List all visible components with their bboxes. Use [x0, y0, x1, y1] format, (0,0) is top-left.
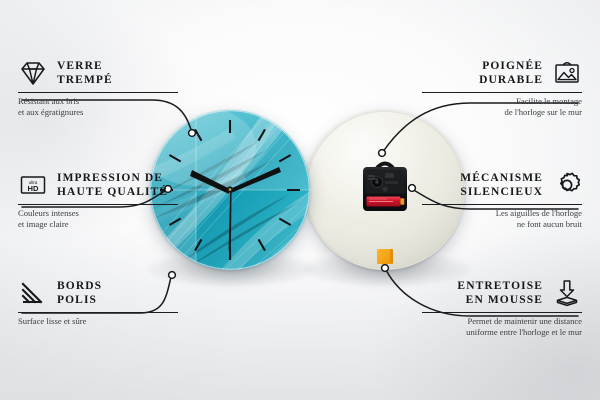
callout-desc: Couleurs intenses et image claire — [18, 208, 178, 229]
ultra-hd-icon: ultra HD — [18, 170, 48, 200]
callout-title-2: POLIS — [57, 293, 102, 307]
callout-title: BORDS — [57, 279, 102, 293]
callout-desc: Surface lisse et sûre — [18, 316, 178, 327]
callout-title: POIGNÉE — [479, 59, 543, 73]
foam-spacer-icon — [552, 278, 582, 308]
callout-title: MÉCANISME — [460, 171, 543, 185]
callout-rule — [18, 312, 178, 313]
infographic-stage: VERRE TREMPÉ Résistant aux bris et aux é… — [0, 0, 600, 400]
diamond-icon — [18, 58, 48, 88]
picture-hanger-icon — [552, 58, 582, 88]
callout-poignee-durable[interactable]: POIGNÉE DURABLE Facilite le montage de l… — [422, 58, 582, 117]
callout-desc: Résistant aux bris et aux égratignures — [18, 96, 178, 117]
callout-entretoise-en-mousse[interactable]: ENTRETOISE EN MOUSSE Permet de maintenir… — [422, 278, 582, 337]
hour-hand — [190, 170, 230, 194]
callout-rule — [18, 204, 178, 205]
callout-rule — [18, 92, 178, 93]
callout-desc: Les aiguilles de l'horloge ne font aucun… — [422, 208, 582, 229]
callout-title: IMPRESSION DE — [57, 171, 168, 185]
callout-rule — [422, 204, 582, 205]
gear-icon — [552, 170, 582, 200]
callout-desc: Facilite le montage de l'horloge sur le … — [422, 96, 582, 117]
callout-title: ENTRETOISE — [457, 279, 543, 293]
callout-title-2: DURABLE — [479, 73, 543, 87]
polished-edge-icon — [18, 278, 48, 308]
second-hand — [229, 189, 232, 250]
callout-title-2: TREMPÉ — [57, 73, 113, 87]
callout-title-2: EN MOUSSE — [457, 293, 543, 307]
callout-rule — [422, 312, 582, 313]
ultra-hd-large-text: HD — [28, 184, 39, 193]
callout-title-2: HAUTE QUALITÉ — [57, 185, 168, 199]
callout-mecanisme-silencieux[interactable]: MÉCANISME SILENCIEUX Les aiguilles de l'… — [422, 170, 582, 229]
callout-bords-polis[interactable]: BORDS POLIS Surface lisse et sûre — [18, 278, 178, 327]
minute-hand — [230, 167, 281, 193]
callout-desc: Permet de maintenir une distance uniform… — [422, 316, 582, 337]
callout-title: VERRE — [57, 59, 113, 73]
callout-verre-trempe[interactable]: VERRE TREMPÉ Résistant aux bris et aux é… — [18, 58, 178, 117]
callout-title-2: SILENCIEUX — [460, 185, 543, 199]
callout-rule — [422, 92, 582, 93]
callout-impression-haute-qualite[interactable]: ultra HD IMPRESSION DE HAUTE QUALITÉ Cou… — [18, 170, 178, 229]
